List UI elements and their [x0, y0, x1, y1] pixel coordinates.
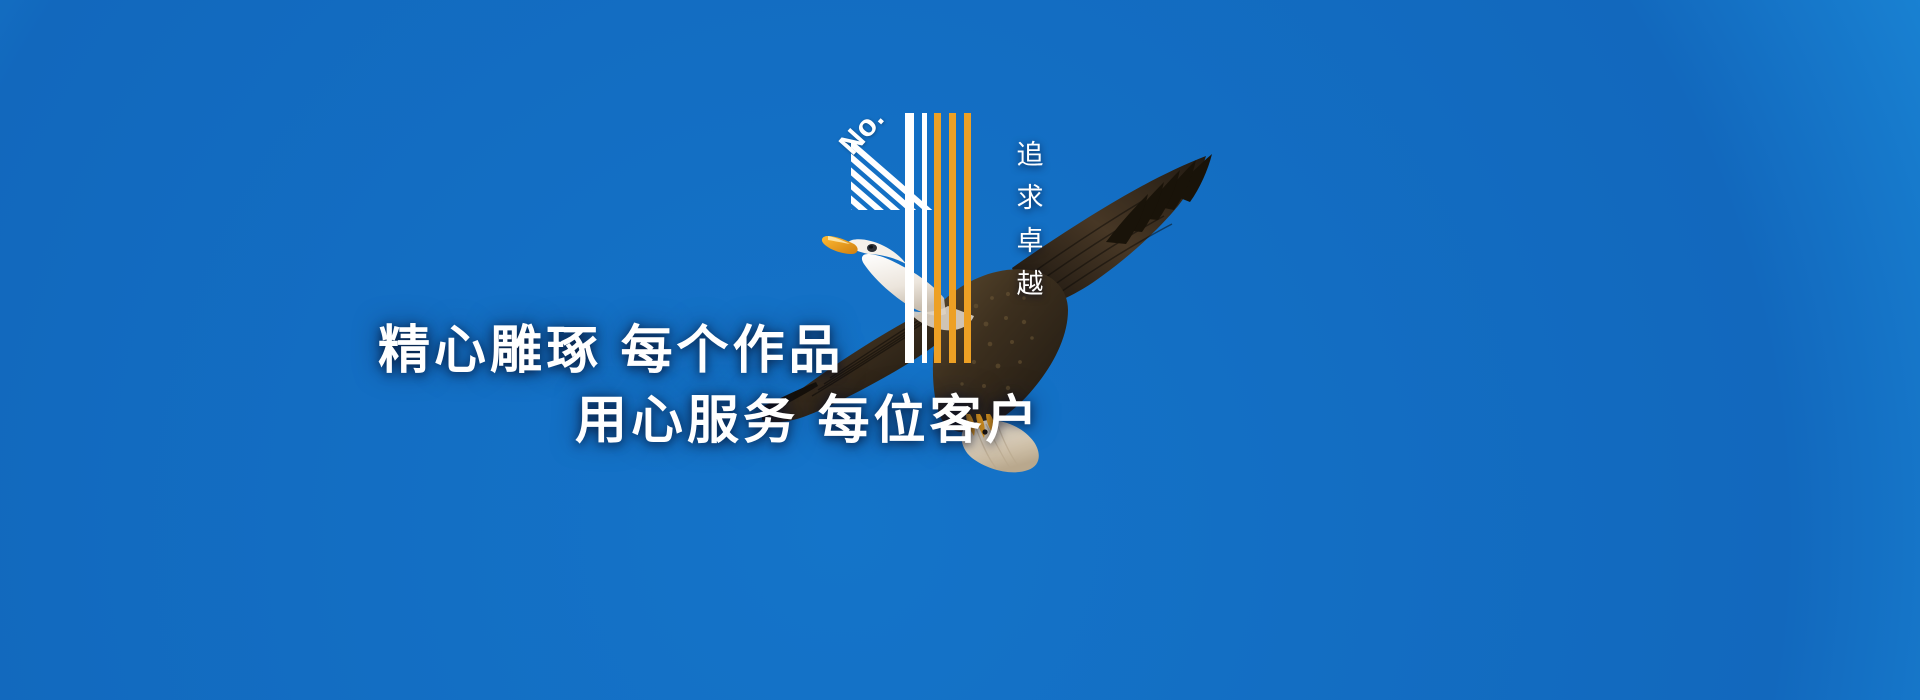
slogan-char-3: 越: [1017, 271, 1044, 298]
slogan-char-0: 追: [1017, 142, 1044, 169]
vertical-slogan: 追求卓越: [1009, 142, 1051, 298]
logo-bar-rule-white-thin: [922, 113, 927, 363]
logo-bar-stem-white-thick: [905, 113, 914, 363]
slogan-char-2: 卓: [1017, 228, 1044, 255]
logo-bar-rule-orange-2: [949, 113, 956, 363]
no1-logo: No.: [843, 113, 1023, 363]
logo-bar-rule-orange-3: [964, 113, 971, 363]
slogan-char-1: 求: [1017, 185, 1044, 212]
hero-banner: No. 追求卓越 精心雕琢 每个作品 用心服务 每位客户: [0, 0, 1920, 700]
logo-bar-rule-orange-1: [934, 113, 941, 363]
